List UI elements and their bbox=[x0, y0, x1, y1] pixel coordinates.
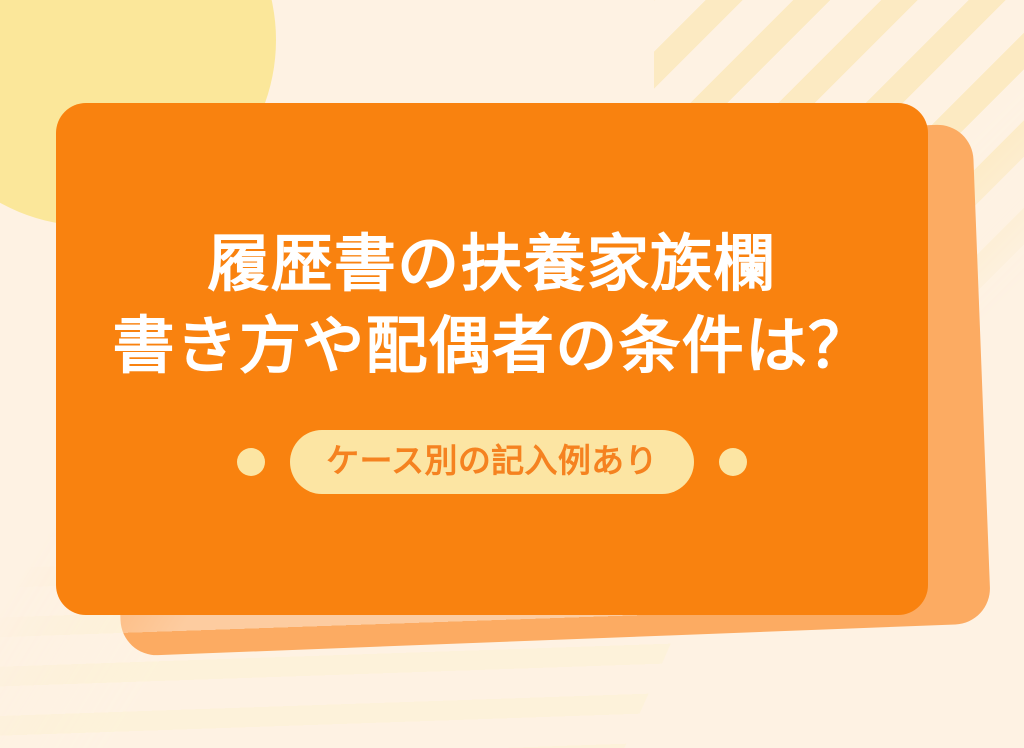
badge-label: ケース別の記入例あり bbox=[290, 430, 694, 494]
headline-line-2: 書き方や配偶者の条件は？ bbox=[113, 306, 872, 388]
badge-row: ケース別の記入例あり bbox=[237, 430, 747, 494]
dot-right-icon bbox=[719, 448, 747, 476]
headline: 履歴書の扶養家族欄 書き方や配偶者の条件は？ bbox=[93, 224, 892, 388]
main-card: 履歴書の扶養家族欄 書き方や配偶者の条件は？ ケース別の記入例あり bbox=[56, 103, 928, 615]
dot-left-icon bbox=[237, 448, 265, 476]
headline-line-1: 履歴書の扶養家族欄 bbox=[113, 224, 872, 306]
banner-canvas: 履歴書の扶養家族欄 書き方や配偶者の条件は？ ケース別の記入例あり bbox=[0, 0, 1024, 748]
